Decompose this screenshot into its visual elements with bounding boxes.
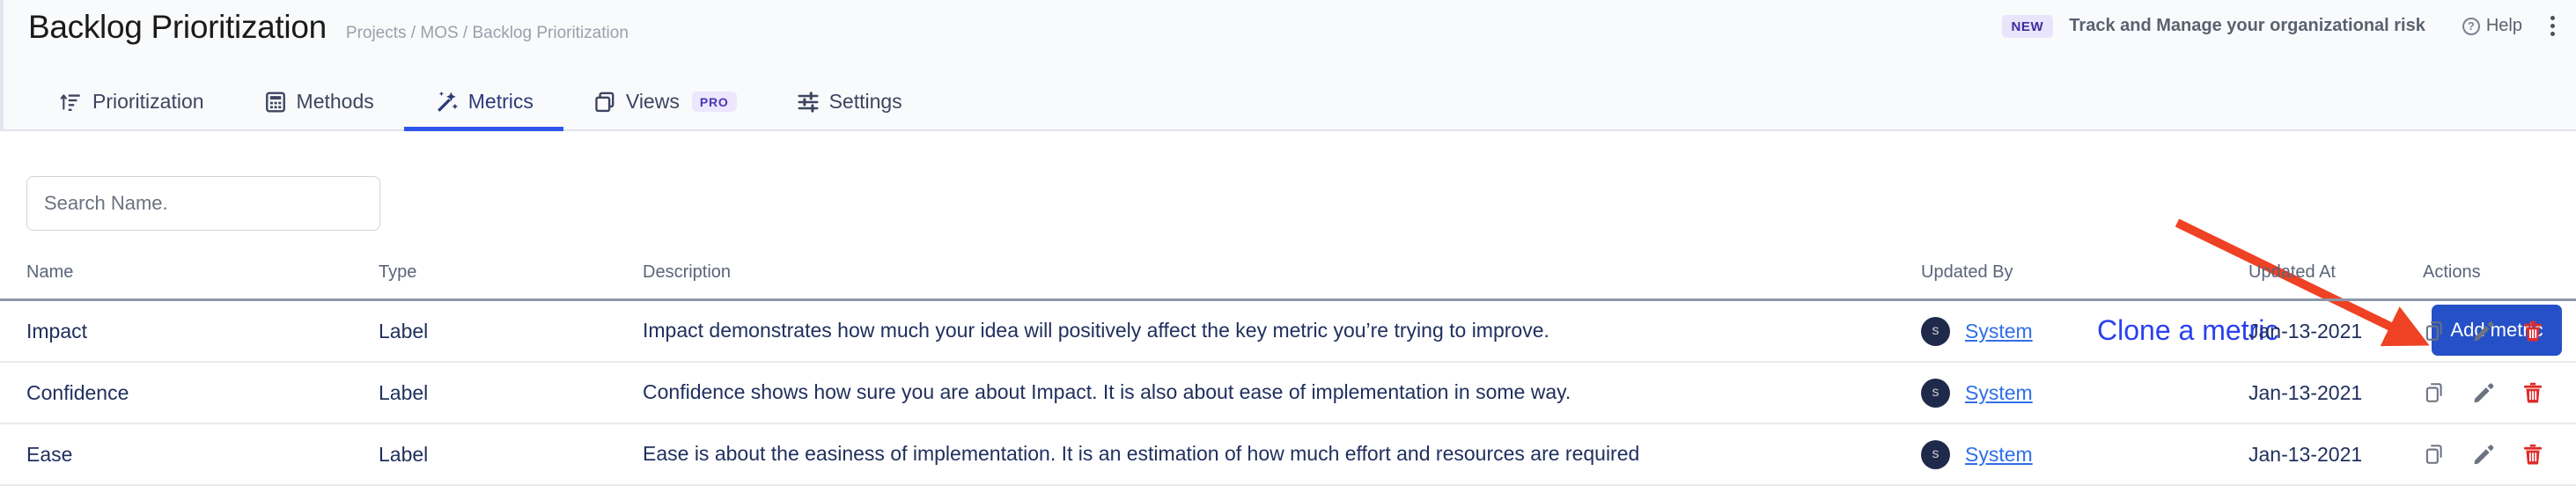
tab-methods[interactable]: Methods [234,74,404,129]
metrics-toolbar: Clone a metric Add metric [0,133,2576,267]
edit-pencil-icon[interactable] [2472,320,2495,342]
cell-actions [2423,320,2555,342]
question-mark-icon: ? [2462,18,2480,35]
table-row[interactable]: Confidence Label Confidence shows how su… [0,363,2576,424]
tab-label: Views [626,90,680,114]
copy-icon[interactable] [2423,320,2446,342]
cell-description: Impact demonstrates how much your idea w… [643,317,1921,345]
tab-bar: Prioritization Methods [0,74,2576,131]
edit-pencil-icon[interactable] [2472,381,2495,404]
magic-wand-icon [434,90,459,114]
cell-updated-by: s System [1921,317,2248,346]
cell-updated-at: Jan-13-2021 [2248,443,2423,467]
table-row[interactable]: Ease Label Ease is about the easiness of… [0,424,2576,486]
column-header-description: Description [643,262,1921,283]
cell-type: Label [379,381,643,405]
column-header-name: Name [26,262,379,283]
cell-type: Label [379,320,643,343]
tab-views[interactable]: Views PRO [563,74,767,129]
avatar: s [1921,440,1950,469]
breadcrumb[interactable]: Projects / MOS / Backlog Prioritization [346,24,629,43]
column-header-updated-at: Updated At [2248,262,2423,283]
copy-layers-icon [593,91,616,114]
cell-updated-by: s System [1921,440,2248,469]
help-label: Help [2486,16,2522,36]
search-input[interactable] [26,176,380,231]
cell-updated-at: Jan-13-2021 [2248,381,2423,405]
tab-label: Methods [297,90,374,114]
tab-metrics[interactable]: Metrics [404,74,563,129]
trash-icon[interactable] [2521,381,2544,404]
updated-by-link[interactable]: System [1965,443,2033,467]
column-header-type: Type [379,262,643,283]
page-header: Backlog Prioritization Projects / MOS / … [0,0,2576,74]
updated-by-link[interactable]: System [1965,320,2033,343]
tab-label: Settings [829,90,902,114]
copy-icon[interactable] [2423,381,2446,404]
tab-label: Metrics [468,90,534,114]
cell-description: Ease is about the easiness of implementa… [643,440,1921,468]
page-title: Backlog Prioritization [28,11,327,43]
header-right-group: NEW Track and Manage your organizational… [2002,12,2561,40]
column-header-actions: Actions [2423,262,2555,283]
cell-name: Confidence [26,381,379,405]
tab-prioritization[interactable]: Prioritization [30,74,234,129]
avatar: s [1921,317,1950,346]
avatar: s [1921,379,1950,408]
cell-name: Ease [26,443,379,467]
trash-icon[interactable] [2521,443,2544,466]
new-badge: NEW [2002,15,2054,38]
tab-label: Prioritization [92,90,204,114]
cell-type: Label [379,443,643,467]
column-header-updated-by: Updated By [1921,262,2248,283]
copy-icon[interactable] [2423,443,2446,466]
pro-badge: PRO [692,92,737,112]
cell-name: Impact [26,320,379,343]
tab-settings[interactable]: Settings [767,74,932,129]
sliders-icon [797,91,820,114]
cell-updated-at: Jan-13-2021 [2248,320,2423,343]
promo-banner-text[interactable]: Track and Manage your organizational ris… [2069,16,2425,36]
edit-pencil-icon[interactable] [2472,443,2495,466]
trash-icon[interactable] [2521,320,2544,342]
table-row[interactable]: Impact Label Impact demonstrates how muc… [0,301,2576,363]
cell-actions [2423,443,2555,466]
more-vertical-icon[interactable] [2545,12,2560,40]
cell-actions [2423,381,2555,404]
calculator-icon [264,91,287,114]
cell-updated-by: s System [1921,379,2248,408]
table-header-row: Name Type Description Updated By Updated… [0,261,2576,301]
metrics-page: Backlog Prioritization Projects / MOS / … [0,0,2576,486]
sort-ascending-icon [60,91,83,114]
metrics-table: Name Type Description Updated By Updated… [0,261,2576,486]
help-button[interactable]: ? Help [2462,16,2522,36]
header-left-group: Backlog Prioritization Projects / MOS / … [4,0,629,43]
cell-description: Confidence shows how sure you are about … [643,379,1921,407]
updated-by-link[interactable]: System [1965,381,2033,405]
